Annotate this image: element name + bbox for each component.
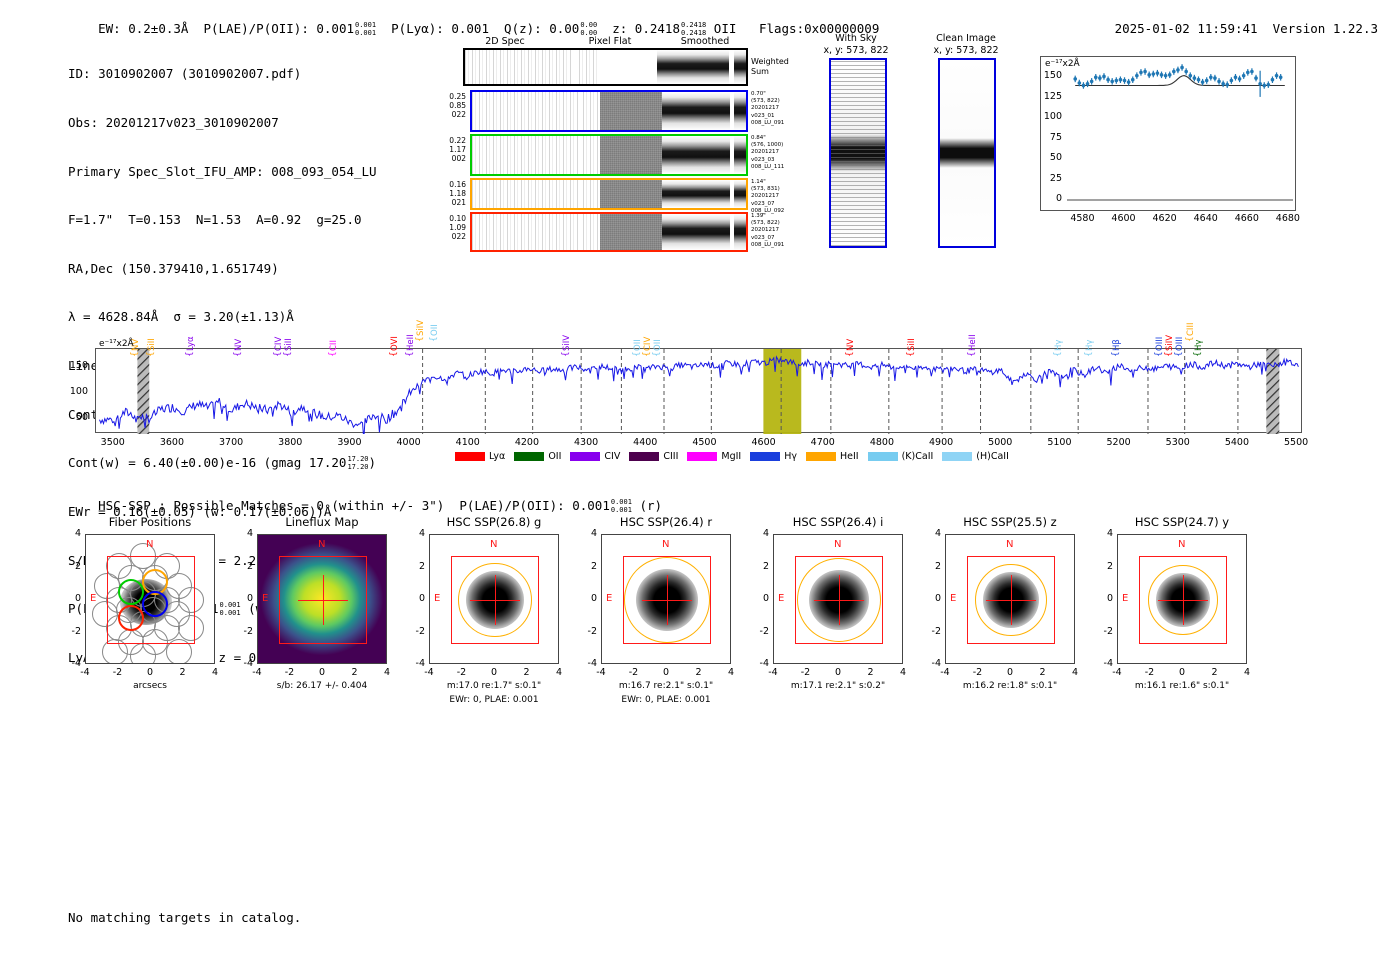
emission-line-label: NV [846,339,856,351]
emission-line-label: SiII [284,338,294,351]
cutout-panel-axes[interactable]: NE [429,534,559,664]
main-ytick: 150 [58,360,88,371]
cutout-caption-primary: m:16.2 re:1.8" s:0.1" [915,681,1105,691]
crosshair-vertical [839,575,841,625]
cutout-ytick: 2 [575,561,597,572]
north-label: N [1178,539,1185,550]
main-ytick: 100 [58,386,88,397]
cutout-row-values: 0.250.85022 [440,92,466,119]
cutout-panel-axes[interactable]: NE [773,534,903,664]
cutout-panel-title: HSC SSP(26.8) g [404,515,584,529]
cutout-ytick: 4 [231,528,253,539]
emission-line-brace: { [1053,351,1063,357]
cutout-panel-title: HSC SSP(26.4) i [748,515,928,529]
cutout-xtick: 2 [341,667,369,678]
cutout-xtick: 0 [308,667,336,678]
main-spectrum-plot: e⁻¹⁷x2Å [95,348,1302,433]
cutout-xtick: 2 [685,667,713,678]
cutout-row-values: 0.221.17002 [440,136,466,163]
hsc-ssp-errs: 0.0010.001 [611,499,632,514]
emission-line-brace: { [146,351,156,357]
legend-item: OII [514,451,561,462]
cutout-value: 022 [440,232,466,241]
east-label: E [262,593,268,604]
emission-line-label: HeII [968,334,978,351]
cutout-value: 1.17 [440,145,466,154]
emission-line-label: SiIV [562,335,572,351]
weighted-sum-label: Weighted Sum [751,57,789,77]
cutout-ytick: 2 [403,561,425,572]
emission-line-label: OVI [390,336,400,351]
emission-line-label: CII [329,340,339,351]
legend-swatch [514,452,544,461]
cutout-value: 0.10 [440,214,466,223]
legend-swatch [629,452,659,461]
cutout-panel-axes[interactable]: NE [85,534,215,664]
cutout-value: 0.85 [440,101,466,110]
main-xtick: 3800 [270,437,310,448]
cutout-value: 1.09 [440,223,466,232]
cutout-xtick: -4 [71,667,99,678]
emission-line-label: NV [234,339,244,351]
emission-line-brace: { [389,351,399,357]
cutout-xtick: -4 [759,667,787,678]
cutout-xtick: 4 [545,667,573,678]
east-label: E [90,593,96,604]
legend-swatch [806,452,836,461]
legend-label: (K)CaII [902,451,934,462]
north-label: N [490,539,497,550]
emission-line-brace: { [845,351,855,357]
legend-item: (K)CaII [868,451,934,462]
zoom-xtick: 4640 [1190,213,1222,224]
zoom-spectrum-canvas [1041,57,1297,212]
cutout-metadata: 0.84" (576, 1000) 20201217 v023_03 008_L… [751,135,784,171]
header-qz-label: Q(z): 0.00 [504,21,579,36]
cutout-panel-axes[interactable]: NE [1117,534,1247,664]
crosshair-vertical [1183,575,1185,625]
cutout-ytick: 0 [1091,593,1113,604]
emission-line-label: Hγ [1194,340,1204,351]
cutout-xtick: 2 [857,667,885,678]
hsc-ssp-post: (r) [639,498,662,513]
cutout-xtick: -2 [964,667,992,678]
cutout-ytick: -2 [919,626,941,637]
cutout-panel-title: Lineflux Map [232,515,412,529]
cutout-value: 1.18 [440,189,466,198]
info-seeing-params: F=1.7" T=0.153 N=1.53 A=0.92 g=25.0 [68,212,377,228]
zoom-ytick: 50 [1038,152,1062,163]
emission-line-label: OII [430,324,440,336]
emission-line-label: SiIV [1165,335,1175,351]
north-label: N [834,539,841,550]
cutout-ytick: 4 [59,528,81,539]
fiber-circle[interactable] [130,643,156,664]
cutout-xtick: -2 [792,667,820,678]
cutout-ytick: 0 [747,593,769,604]
info-cont-w: Cont(w) = 6.40(±0.00)e-16 (gmag 17.2017.… [68,455,377,471]
main-spectrum-legend: LyαOIICIVCIIIMgIIHγHeII(K)CaII(H)CaII [455,446,1018,465]
cutout-panel-axes[interactable]: NE [945,534,1075,664]
aperture-box [107,556,195,644]
cutout-xtick: 0 [480,667,508,678]
zoom-spectrum-axes: e⁻¹⁷x2Å [1040,56,1296,211]
cutout-ytick: 0 [231,593,253,604]
cutout-xtick: 4 [889,667,917,678]
header-qz-errs: 0.000.00 [580,22,597,37]
emission-line-brace: { [642,351,652,357]
cutout-ytick: -2 [1091,626,1113,637]
cutout-xtick: 4 [373,667,401,678]
cutout-caption-primary: m:16.1 re:1.6" s:0.1" [1087,681,1277,691]
legend-label: Lyα [489,451,505,462]
main-ytick: 50 [58,412,88,423]
cutout-ytick: 4 [919,528,941,539]
cutout-strip [470,134,748,176]
cutout-ytick: 2 [1091,561,1113,572]
cutout-ytick: 4 [747,528,769,539]
cutout-value: 0.22 [440,136,466,145]
cutout-ytick: 0 [919,593,941,604]
emission-line-label: OIII [1175,337,1185,351]
emission-line-brace: { [233,351,243,357]
main-xtick: 5100 [1039,437,1079,448]
east-label: E [950,593,956,604]
cutout-caption-primary: arcsecs [55,681,245,691]
cutout-ytick: 4 [1091,528,1113,539]
header-z-errs: 0.24180.2418 [681,22,706,37]
with-sky-title: With Sky [808,33,904,44]
cutout-value: 021 [440,198,466,207]
cutout-xtick: -2 [104,667,132,678]
main-xtick: 5500 [1276,437,1316,448]
legend-item: Lyα [455,451,505,462]
info-cont-w-errs: 17.2017.20 [347,456,368,471]
emission-line-brace: { [1193,351,1203,357]
emission-line-label: CIV [643,337,653,351]
emission-line-brace: { [632,351,642,357]
emission-line-brace: { [429,336,439,342]
cutout-ytick: -2 [231,626,253,637]
cutout-xtick: 4 [1233,667,1261,678]
cutout-xtick: 2 [1201,667,1229,678]
emission-line-brace: { [1111,351,1121,357]
emission-line-label: Hβ [1112,339,1122,351]
main-xtick: 3700 [211,437,251,448]
cutout-strip [470,212,748,252]
clean-image [938,58,996,248]
col-title-2dspec: 2D Spec [470,36,540,47]
cutout-ytick: -2 [575,626,597,637]
zoom-xtick: 4600 [1108,213,1140,224]
cutout-strip [470,90,748,132]
emission-line-label: CIV [274,337,284,351]
zoom-spectrum-plot: e⁻¹⁷x2Å 0255075100125150 458046004620464… [1040,56,1296,226]
main-xtick: 3900 [329,437,369,448]
crosshair-vertical [1011,575,1013,625]
emission-line-brace: { [1164,351,1174,357]
legend-label: CIV [604,451,620,462]
cutout-xtick: -2 [276,667,304,678]
emission-line-brace: { [561,351,571,357]
legend-label: (H)CaII [976,451,1009,462]
cutout-xtick: 0 [824,667,852,678]
info-primary-spec-slot: Primary Spec_Slot_IFU_AMP: 008_093_054_L… [68,164,377,180]
clean-image-title: Clean Image [913,33,1019,44]
zoom-xtick: 4620 [1149,213,1181,224]
emission-line-label: Lyα [186,336,196,351]
zoom-ytick: 125 [1038,91,1062,102]
emission-line-label: OII [653,339,663,351]
legend-swatch [750,452,780,461]
cutout-row-values: 0.161.18021 [440,180,466,207]
weighted-sum-strip [463,48,748,86]
with-sky-subtitle: x, y: 573, 822 [808,45,904,56]
emission-line-brace: { [1185,336,1195,342]
emission-line-brace: { [415,336,425,342]
info-lambda-sigma: λ = 4628.84Å σ = 3.20(±1.13)Å [68,309,377,325]
cutout-ytick: 2 [747,561,769,572]
emission-line-label: OIII [1155,337,1165,351]
cutout-panel-title: HSC SSP(25.5) z [920,515,1100,529]
cutout-xtick: -2 [620,667,648,678]
north-label: N [1006,539,1013,550]
cutout-xtick: 4 [201,667,229,678]
main-xtick: 5400 [1217,437,1257,448]
north-label: N [662,539,669,550]
north-label: N [318,539,325,550]
cutout-caption-secondary: EWr: 0, PLAE: 0.001 [399,695,589,705]
legend-swatch [570,452,600,461]
legend-item: CIV [570,451,620,462]
header-version: Version 1.22.3 [1273,21,1378,36]
zoom-ytick: 150 [1038,70,1062,81]
legend-swatch [687,452,717,461]
legend-label: CIII [663,451,678,462]
header-z-label: z: 0.2418 [612,21,680,36]
emission-line-brace: { [1154,351,1164,357]
report-page: EW: 0.2±0.3Å P(LAE)/P(OII): 0.0010.0010.… [0,0,1400,953]
cutout-xtick: 2 [1029,667,1057,678]
emission-line-brace: { [967,351,977,357]
cutout-xtick: -4 [1103,667,1131,678]
legend-label: MgII [721,451,741,462]
cutout-xtick: -4 [587,667,615,678]
legend-label: OII [548,451,561,462]
emission-line-brace: { [405,351,415,357]
header-plya: P(Lyα): 0.001 [391,21,489,36]
legend-item: HeII [806,451,859,462]
cutout-xtick: -4 [931,667,959,678]
cutout-ytick: 2 [231,561,253,572]
cutout-metadata: 0.70" (573, 822) 20201217 v023_01 008_LU… [751,91,784,127]
cutout-value: 022 [440,110,466,119]
cutout-caption-primary: m:17.0 re:1.7" s:0.1" [399,681,589,691]
cutout-panel-axes[interactable]: NE [601,534,731,664]
cutout-xtick: 4 [1061,667,1089,678]
cutout-ytick: -2 [403,626,425,637]
footer-line-1: No matching targets in catalog. [68,909,301,926]
footer-note: No matching targets in catalog. Row inte… [68,875,301,953]
emission-line-label: SiIV [416,320,426,336]
cutout-caption-primary: m:16.7 re:2.1" s:0.1" [571,681,761,691]
main-xtick: 4000 [389,437,429,448]
clean-image-subtitle: x, y: 573, 822 [913,45,1019,56]
cutout-ytick: 0 [59,593,81,604]
emission-line-label: Hγ [1085,340,1095,351]
legend-swatch [455,452,485,461]
info-radec: RA,Dec (150.379410,1.651749) [68,261,377,277]
cutout-xtick: 0 [652,667,680,678]
legend-swatch [868,452,898,461]
east-label: E [434,593,440,604]
cutout-row-values: 0.101.09022 [440,214,466,241]
main-spectrum-canvas [96,349,1303,434]
zoom-ytick: 25 [1038,173,1062,184]
legend-label: HeII [840,451,859,462]
crosshair-vertical [495,575,497,625]
header-datetime: 2025-01-02 11:59:41 [1115,21,1258,36]
cutout-xtick: -4 [415,667,443,678]
legend-item: Hγ [750,451,797,462]
main-spectrum-units: e⁻¹⁷x2Å [99,339,134,349]
cutout-value: 0.25 [440,92,466,101]
cutout-caption-secondary: EWr: 0, PLAE: 0.001 [571,695,761,705]
cutout-panel-title: Fiber Positions [60,515,240,529]
emission-line-label: Hγ [1054,340,1064,351]
cutout-metadata: 1.39" (573, 822) 20201217 v023_07 008_LU… [751,213,784,249]
cutout-ytick: 4 [575,528,597,539]
emission-line-brace: { [283,351,293,357]
emission-line-brace: { [328,351,338,357]
zoom-ytick: 75 [1038,132,1062,143]
crosshair-vertical [323,575,325,625]
emission-line-brace: { [1084,351,1094,357]
cutout-ytick: 0 [575,593,597,604]
hsc-ssp-pre: HSC-SSP : Possible Matches = 0 (within +… [98,498,610,513]
cutout-xtick: 0 [136,667,164,678]
emission-line-label: SiII [147,338,157,351]
emission-line-brace: { [906,351,916,357]
cutout-caption-primary: m:17.1 re:2.1" s:0.2" [743,681,933,691]
cutout-panel-axes[interactable]: NE [257,534,387,664]
cutout-caption-primary: s/b: 26.17 +/- 0.404 [227,681,417,691]
cutout-panel-title: HSC SSP(26.4) r [576,515,756,529]
east-label: E [1122,593,1128,604]
cutout-ytick: 0 [403,593,425,604]
zoom-ytick: 100 [1038,111,1062,122]
zoom-xtick: 4680 [1272,213,1304,224]
emission-line-brace: { [273,351,283,357]
cutout-ytick: 2 [919,561,941,572]
cutout-xtick: -2 [1136,667,1164,678]
emission-line-brace: { [1174,351,1184,357]
cutout-xtick: 4 [717,667,745,678]
emission-line-brace: { [652,351,662,357]
cutout-xtick: 2 [513,667,541,678]
header-timestamp-version: 2025-01-02 11:59:41 Version 1.22.3 [1084,6,1378,51]
zoom-ytick: 0 [1038,193,1062,204]
info-plae-errs: 0.0010.001 [220,602,241,617]
north-label: N [146,539,153,550]
emission-line-brace: { [130,351,140,357]
cutout-strip [470,178,748,210]
emission-line-label: SiII [907,338,917,351]
cutout-ytick: 4 [403,528,425,539]
legend-item: CIII [629,451,678,462]
cutout-xtick: 2 [169,667,197,678]
with-sky-image [829,58,887,248]
zoom-xtick: 4580 [1066,213,1098,224]
legend-item: (H)CaII [942,451,1009,462]
main-xtick: 3500 [93,437,133,448]
info-obs: Obs: 20201217v023_3010902007 [68,115,377,131]
cutout-metadata: 1.14" (573, 831) 20201217 v023_07 008_LU… [751,179,784,215]
col-title-pixelflat: Pixel Flat [570,36,650,47]
header-z-type: OII [714,21,737,36]
zoom-xtick: 4660 [1231,213,1263,224]
main-xtick: 5300 [1158,437,1198,448]
cutout-value: 002 [440,154,466,163]
legend-label: Hγ [784,451,797,462]
cutout-xtick: 0 [996,667,1024,678]
cutout-ytick: -2 [747,626,769,637]
col-title-smoothed: Smoothed [665,36,745,47]
cutout-ytick: -2 [59,626,81,637]
cutout-xtick: 0 [1168,667,1196,678]
cutout-xtick: -2 [448,667,476,678]
emission-line-brace: { [185,351,195,357]
legend-item: MgII [687,451,741,462]
legend-swatch [942,452,972,461]
emission-line-label: CIII [1186,323,1196,336]
emission-line-label: OII [633,339,643,351]
cutout-xtick: -4 [243,667,271,678]
cutout-panel-title: HSC SSP(24.7) y [1092,515,1272,529]
main-xtick: 5200 [1099,437,1139,448]
main-xtick: 3600 [152,437,192,448]
crosshair-vertical [667,575,669,625]
east-label: E [606,593,612,604]
main-spectrum-axes: e⁻¹⁷x2Å [95,348,1302,433]
east-label: E [778,593,784,604]
cutout-value: 0.16 [440,180,466,189]
info-id: ID: 3010902007 (3010902007.pdf) [68,66,377,82]
cutout-ytick: 2 [59,561,81,572]
